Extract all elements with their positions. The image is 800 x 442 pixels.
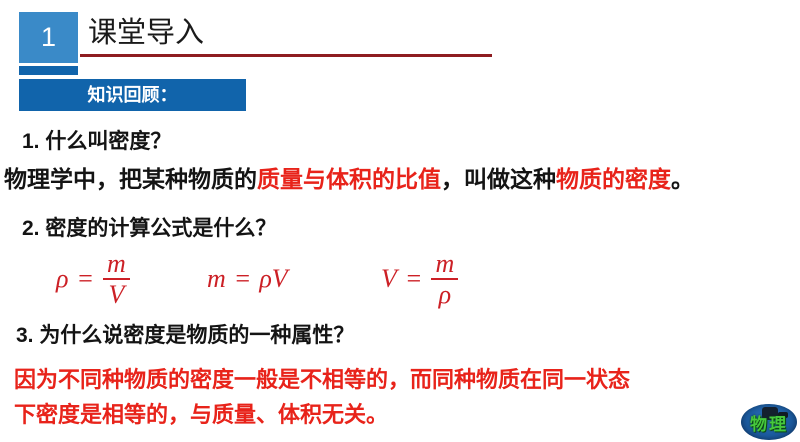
formula-2-rhs: ρV xyxy=(258,264,288,294)
section-number-box: 1 xyxy=(19,12,78,63)
formula-3-denominator: ρ xyxy=(435,280,455,308)
formula-3-equals: = xyxy=(398,264,430,294)
formula-mass: m = ρV xyxy=(206,248,289,310)
answer-3: 因为不同种物质的密度一般是不相等的，而同种物质在同一状态 下密度是相等的，与质量… xyxy=(14,362,794,432)
answer-1-highlight-1: 质量与体积的比值 xyxy=(257,166,441,192)
formula-1-lhs: ρ xyxy=(55,264,69,294)
formula-1-denominator: V xyxy=(104,280,128,308)
answer-1-part2: ，叫做这种 xyxy=(441,166,556,192)
section-number-underbar xyxy=(19,66,78,75)
logo-label: 物理 xyxy=(741,404,797,440)
formula-3-fraction: m ρ xyxy=(429,250,460,309)
formula-volume: V = m ρ xyxy=(380,248,460,310)
formula-3-numerator: m xyxy=(431,250,458,278)
formula-2-lhs: m xyxy=(206,264,227,294)
title-underline-rule xyxy=(80,54,492,57)
formula-2-equals: = xyxy=(227,264,259,294)
question-1: 1. 什么叫密度？ xyxy=(22,128,171,156)
formula-density: ρ = m V xyxy=(55,248,132,310)
question-3: 3. 为什么说密度是物质的一种属性？ xyxy=(16,322,354,350)
answer-1-highlight-2: 物质的密度 xyxy=(556,166,671,192)
physics-logo-badge: 物理 xyxy=(741,404,797,440)
answer-1-part1: 物理学中，把某种物质的 xyxy=(4,166,257,192)
slide-canvas: 1 课堂导入 知识回顾： 1. 什么叫密度？ 物理学中，把某种物质的质量与体积的… xyxy=(0,0,800,442)
question-2: 2. 密度的计算公式是什么？ xyxy=(22,215,276,243)
page-title: 课堂导入 xyxy=(88,13,204,53)
formula-row: ρ = m V m = ρV V = m ρ xyxy=(55,248,575,310)
answer-1-part3: 。 xyxy=(671,166,694,192)
formula-1-fraction: m V xyxy=(101,250,132,309)
answer-3-line-1: 因为不同种物质的密度一般是不相等的，而同种物质在同一状态 xyxy=(14,367,630,392)
formula-1-equals: = xyxy=(69,264,101,294)
formula-1-numerator: m xyxy=(103,250,130,278)
answer-1: 物理学中，把某种物质的质量与体积的比值，叫做这种物质的密度。 xyxy=(4,163,694,195)
answer-3-line-2: 下密度是相等的，与质量、体积无关。 xyxy=(14,397,794,432)
formula-3-lhs: V xyxy=(380,264,398,294)
knowledge-review-banner: 知识回顾： xyxy=(19,79,246,111)
